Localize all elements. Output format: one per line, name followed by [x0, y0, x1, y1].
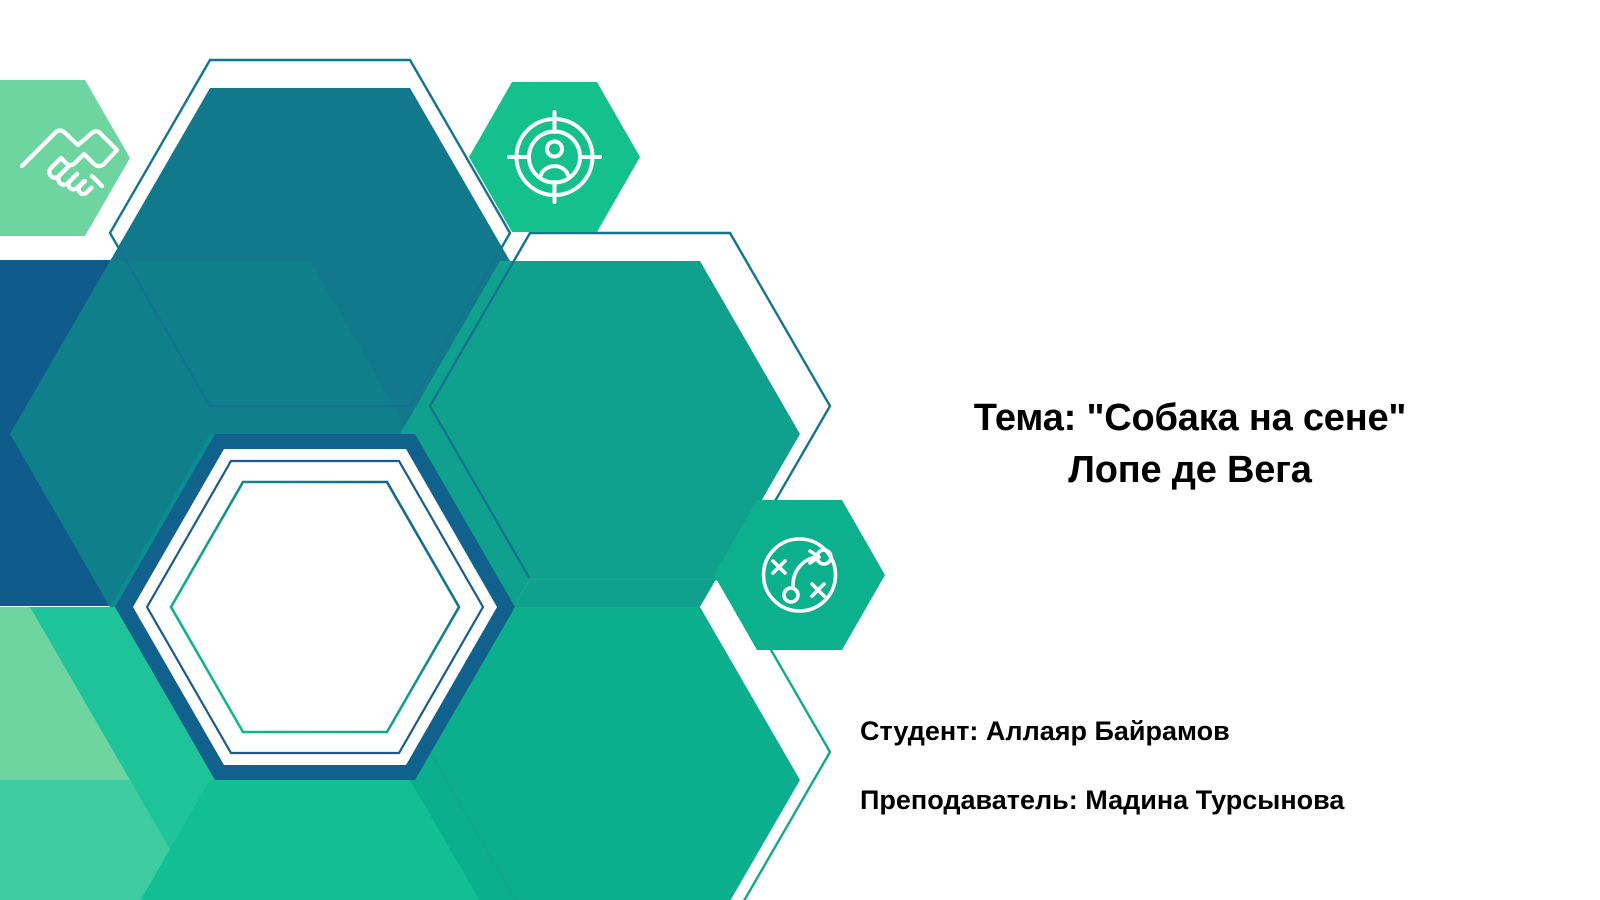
hex-top-right-accent	[469, 82, 640, 232]
credit-teacher: Преподаватель: Мадина Турсынова	[860, 784, 1540, 816]
title-line-2: Лопе де Вега	[840, 444, 1540, 496]
text-column: Тема: "Собака на сене" Лопе де Вега Студ…	[840, 0, 1540, 900]
credits-block: Студент: Аллаяр Байрамов Преподаватель: …	[860, 715, 1540, 817]
title-slide: Тема: "Собака на сене" Лопе де Вега Студ…	[0, 0, 1600, 900]
title-line-1: Тема: "Собака на сене"	[840, 392, 1540, 444]
credit-student: Студент: Аллаяр Байрамов	[860, 715, 1540, 747]
hex-top-left-accent	[0, 80, 130, 236]
page-title: Тема: "Собака на сене" Лопе де Вега	[840, 392, 1540, 497]
